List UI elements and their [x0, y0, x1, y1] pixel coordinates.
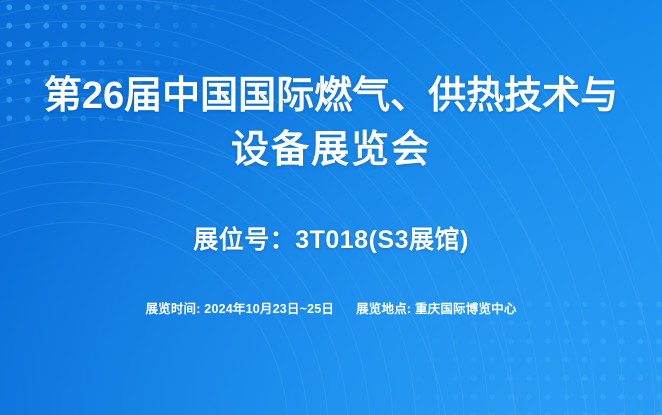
- event-venue: 展览地点: 重庆国际博览中心: [356, 298, 516, 317]
- title-line-2: 设备展览会: [31, 124, 631, 178]
- page-title: 第26届中国国际燃气、供热技术与 设备展览会: [31, 70, 631, 178]
- booth-number: 展位号：3T018(S3展馆): [193, 220, 469, 256]
- banner-content: 第26届中国国际燃气、供热技术与 设备展览会 展位号：3T018(S3展馆) 展…: [0, 0, 662, 415]
- title-line-1: 第26届中国国际燃气、供热技术与: [31, 70, 631, 124]
- event-date: 展览时间: 2024年10月23日~25日: [145, 298, 334, 317]
- exhibition-banner: 第26届中国国际燃气、供热技术与 设备展览会 展位号：3T018(S3展馆) 展…: [0, 0, 662, 415]
- event-meta: 展览时间: 2024年10月23日~25日 展览地点: 重庆国际博览中心: [145, 298, 516, 317]
